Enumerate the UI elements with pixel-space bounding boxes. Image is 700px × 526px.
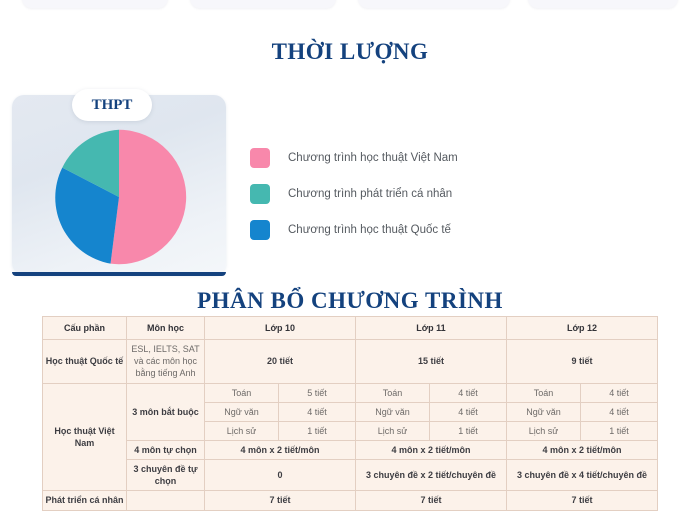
cell-lop11-periods-nguvan: 4 tiết bbox=[430, 402, 507, 421]
th-lop12: Lớp 12 bbox=[507, 317, 658, 340]
top-card-4[interactable] bbox=[528, 0, 678, 8]
table-header-row: Cấu phần Môn học Lớp 10 Lớp 11 Lớp 12 bbox=[43, 317, 658, 340]
cell-chuyende-lop10: 0 bbox=[205, 460, 356, 491]
legend-item-canhan: Chương trình phát triển cá nhân bbox=[250, 176, 510, 212]
top-card-3[interactable] bbox=[358, 0, 510, 8]
legend-label-vietnam: Chương trình học thuật Việt Nam bbox=[288, 152, 458, 164]
cell-lop10-subject-toan: Toán bbox=[205, 383, 279, 402]
cell-lop11-subject-lichsu: Lịch sử bbox=[356, 421, 430, 440]
table-row-vietnam-tuchon: 4 môn tự chọn 4 môn x 2 tiết/môn 4 môn x… bbox=[43, 440, 658, 459]
chart-card-accent-bar bbox=[12, 272, 226, 276]
legend-item-vietnam: Chương trình học thuật Việt Nam bbox=[250, 140, 510, 176]
cell-component-vietnam: Học thuật Việt Nam bbox=[43, 383, 127, 491]
cell-chuyende-lop12: 3 chuyên đề x 4 tiết/chuyên đề bbox=[507, 460, 658, 491]
pie-chart bbox=[49, 127, 189, 267]
cell-lop12-subject-nguvan: Ngữ văn bbox=[507, 402, 581, 421]
cell-lop12-periods-toan: 4 tiết bbox=[581, 383, 658, 402]
cell-lop11-subject-toan: Toán bbox=[356, 383, 430, 402]
legend-swatch-pink bbox=[250, 148, 270, 168]
cell-lop10-subject-lichsu: Lịch sử bbox=[205, 421, 279, 440]
cell-lop12-periods-nguvan: 4 tiết bbox=[581, 402, 658, 421]
cell-component-canhan: Phát triển cá nhân bbox=[43, 491, 127, 510]
page-title-duration: THỜI LƯỢNG bbox=[0, 39, 700, 65]
legend-label-canhan: Chương trình phát triển cá nhân bbox=[288, 188, 452, 200]
cell-subject-canhan bbox=[127, 491, 205, 510]
cell-subject-batbuoc: 3 môn bắt buộc bbox=[127, 383, 205, 440]
top-card-1[interactable] bbox=[22, 0, 168, 8]
cell-lop11-periods-toan: 4 tiết bbox=[430, 383, 507, 402]
cell-quocte-lop11: 15 tiết bbox=[356, 340, 507, 383]
cell-subject-tuchon: 4 môn tự chọn bbox=[127, 440, 205, 459]
pie-slice-vietnam bbox=[111, 130, 187, 264]
cell-component-quocte: Học thuật Quốc tế bbox=[43, 340, 127, 383]
cell-lop10-periods-nguvan: 4 tiết bbox=[279, 402, 356, 421]
cell-lop12-subject-lichsu: Lịch sử bbox=[507, 421, 581, 440]
cell-lop11-subject-nguvan: Ngữ văn bbox=[356, 402, 430, 421]
legend-swatch-blue bbox=[250, 220, 270, 240]
table-row-vietnam-chuyende: 3 chuyên đề tự chọn 0 3 chuyên đề x 2 ti… bbox=[43, 460, 658, 491]
th-component: Cấu phần bbox=[43, 317, 127, 340]
chart-badge-thpt: THPT bbox=[72, 89, 152, 121]
cell-lop10-periods-toan: 5 tiết bbox=[279, 383, 356, 402]
cell-canhan-lop12: 7 tiết bbox=[507, 491, 658, 510]
cell-quocte-lop12: 9 tiết bbox=[507, 340, 658, 383]
cell-lop10-subject-nguvan: Ngữ văn bbox=[205, 402, 279, 421]
top-card-strip bbox=[0, 0, 700, 14]
cell-tuchon-lop11: 4 môn x 2 tiết/môn bbox=[356, 440, 507, 459]
program-distribution-table: Cấu phần Môn học Lớp 10 Lớp 11 Lớp 12 Họ… bbox=[42, 316, 658, 511]
cell-canhan-lop10: 7 tiết bbox=[205, 491, 356, 510]
cell-tuchon-lop12: 4 môn x 2 tiết/môn bbox=[507, 440, 658, 459]
cell-lop12-subject-toan: Toán bbox=[507, 383, 581, 402]
table-row-canhan: Phát triển cá nhân 7 tiết 7 tiết 7 tiết bbox=[43, 491, 658, 510]
cell-subject-quocte: ESL, IELTS, SAT và các môn học bằng tiến… bbox=[127, 340, 205, 383]
cell-lop12-periods-lichsu: 1 tiết bbox=[581, 421, 658, 440]
legend-label-quocte: Chương trình học thuật Quốc tế bbox=[288, 224, 451, 236]
legend-swatch-teal bbox=[250, 184, 270, 204]
cell-lop11-periods-lichsu: 1 tiết bbox=[430, 421, 507, 440]
table-row-quocte: Học thuật Quốc tế ESL, IELTS, SAT và các… bbox=[43, 340, 658, 383]
th-lop11: Lớp 11 bbox=[356, 317, 507, 340]
th-subject: Môn học bbox=[127, 317, 205, 340]
top-card-2[interactable] bbox=[190, 0, 336, 8]
page-title-distribution: PHÂN BỔ CHƯƠNG TRÌNH bbox=[0, 288, 700, 314]
cell-quocte-lop10: 20 tiết bbox=[205, 340, 356, 383]
cell-chuyende-lop11: 3 chuyên đề x 2 tiết/chuyên đề bbox=[356, 460, 507, 491]
slide-root: THỜI LƯỢNG THPT 40%-64% 40%-20% 16% Chươ… bbox=[0, 0, 700, 526]
chart-legend: Chương trình học thuật Việt Nam Chương t… bbox=[250, 140, 510, 248]
legend-item-quocte: Chương trình học thuật Quốc tế bbox=[250, 212, 510, 248]
cell-lop10-periods-lichsu: 1 tiết bbox=[279, 421, 356, 440]
cell-canhan-lop11: 7 tiết bbox=[356, 491, 507, 510]
table-row-vietnam-toan: Học thuật Việt Nam 3 môn bắt buộc Toán 5… bbox=[43, 383, 658, 402]
cell-tuchon-lop10: 4 môn x 2 tiết/môn bbox=[205, 440, 356, 459]
cell-subject-chuyende: 3 chuyên đề tự chọn bbox=[127, 460, 205, 491]
th-lop10: Lớp 10 bbox=[205, 317, 356, 340]
